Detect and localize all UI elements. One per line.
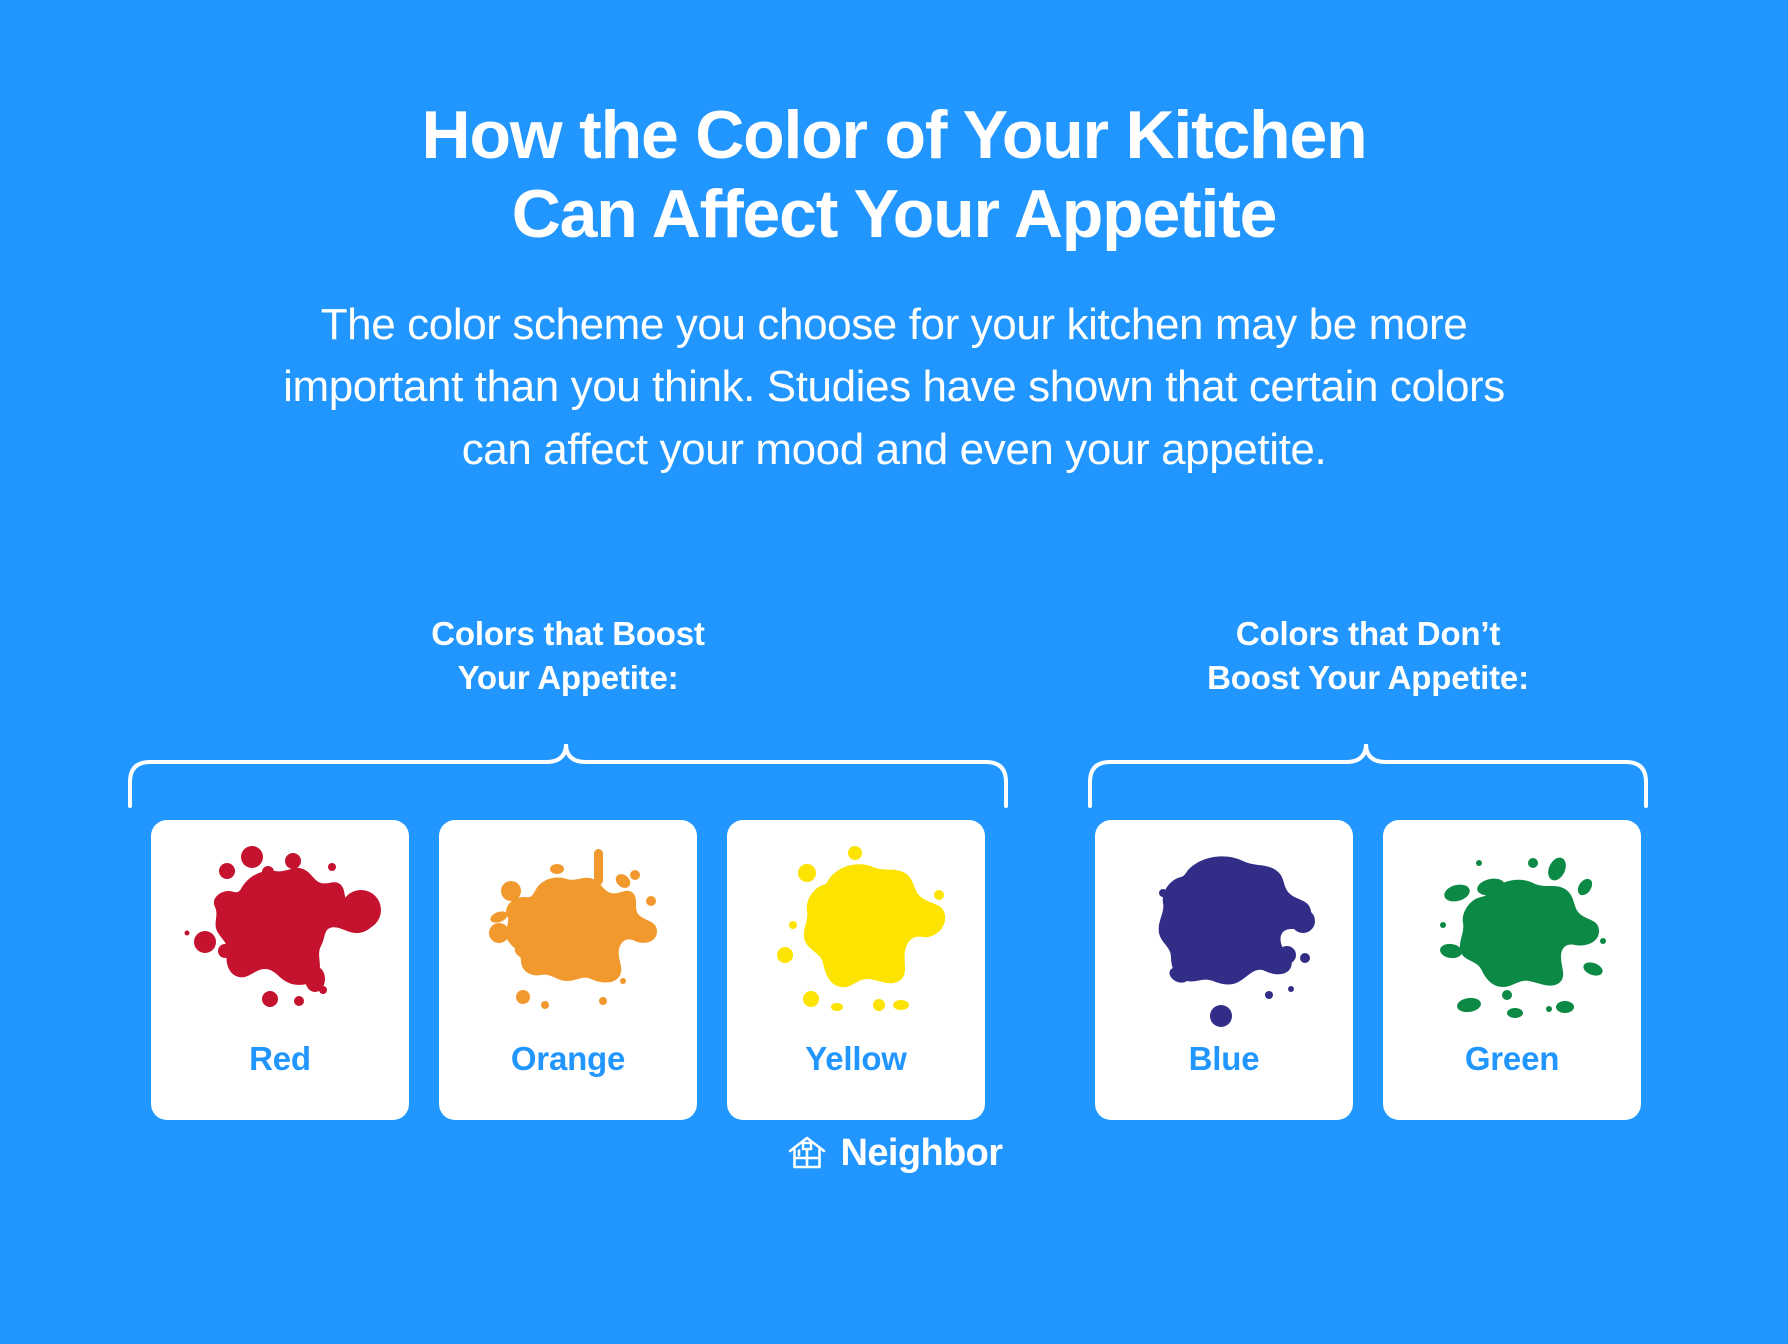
- cards-boost: Red: [128, 820, 1008, 1120]
- page-subtitle: The color scheme you choose for your kit…: [124, 294, 1664, 481]
- infographic-page: How the Color of Your Kitchen Can Affect…: [0, 0, 1788, 1344]
- group-heading-boost-line-2: Your Appetite:: [128, 656, 1008, 700]
- color-groups: Colors that Boost Your Appetite:: [0, 612, 1788, 1172]
- paint-splatter-yellow-icon: [751, 829, 961, 1029]
- cards-no-boost: Blue: [1088, 820, 1648, 1120]
- curly-bracket-boost-icon: [128, 728, 1008, 808]
- color-card-label-green: Green: [1465, 1042, 1559, 1075]
- color-card-label-yellow: Yellow: [805, 1042, 907, 1075]
- color-card-label-red: Red: [249, 1042, 311, 1075]
- paint-splatter-red-icon: [175, 829, 385, 1029]
- color-card-orange[interactable]: Orange: [439, 820, 697, 1120]
- paint-splatter-blue-icon: [1119, 829, 1329, 1029]
- title-line-2: Can Affect Your Appetite: [244, 175, 1544, 254]
- page-title: How the Color of Your Kitchen Can Affect…: [244, 96, 1544, 254]
- title-line-1: How the Color of Your Kitchen: [244, 96, 1544, 175]
- group-heading-no-boost-line-2: Boost Your Appetite:: [1088, 656, 1648, 700]
- color-card-green[interactable]: Green: [1383, 820, 1641, 1120]
- color-card-label-blue: Blue: [1189, 1042, 1260, 1075]
- color-card-label-orange: Orange: [511, 1042, 625, 1075]
- house-icon: [786, 1132, 828, 1174]
- header: How the Color of Your Kitchen Can Affect…: [0, 0, 1788, 481]
- splatter-wrap-yellow: [727, 820, 985, 1038]
- subtitle-line-1: The color scheme you choose for your kit…: [124, 294, 1664, 356]
- group-heading-boost-line-1: Colors that Boost: [128, 612, 1008, 656]
- splatter-wrap-blue: [1095, 820, 1353, 1038]
- footer-brand: Neighbor: [0, 1132, 1788, 1174]
- curly-bracket-no-boost-icon: [1088, 728, 1648, 808]
- color-card-red[interactable]: Red: [151, 820, 409, 1120]
- group-heading-no-boost-line-1: Colors that Don’t: [1088, 612, 1648, 656]
- color-card-blue[interactable]: Blue: [1095, 820, 1353, 1120]
- subtitle-line-3: can affect your mood and even your appet…: [124, 419, 1664, 481]
- splatter-wrap-orange: [439, 820, 697, 1038]
- splatter-wrap-green: [1383, 820, 1641, 1038]
- paint-splatter-green-icon: [1407, 829, 1617, 1029]
- splatter-wrap-red: [151, 820, 409, 1038]
- paint-splatter-orange-icon: [463, 829, 673, 1029]
- subtitle-line-2: important than you think. Studies have s…: [124, 356, 1664, 418]
- group-no-boost-appetite: Colors that Don’t Boost Your Appetite:: [1088, 612, 1648, 1120]
- group-heading-boost: Colors that Boost Your Appetite:: [128, 612, 1008, 722]
- brand-name: Neighbor: [841, 1134, 1003, 1172]
- color-card-yellow[interactable]: Yellow: [727, 820, 985, 1120]
- group-boost-appetite: Colors that Boost Your Appetite:: [128, 612, 1008, 1120]
- group-heading-no-boost: Colors that Don’t Boost Your Appetite:: [1088, 612, 1648, 722]
